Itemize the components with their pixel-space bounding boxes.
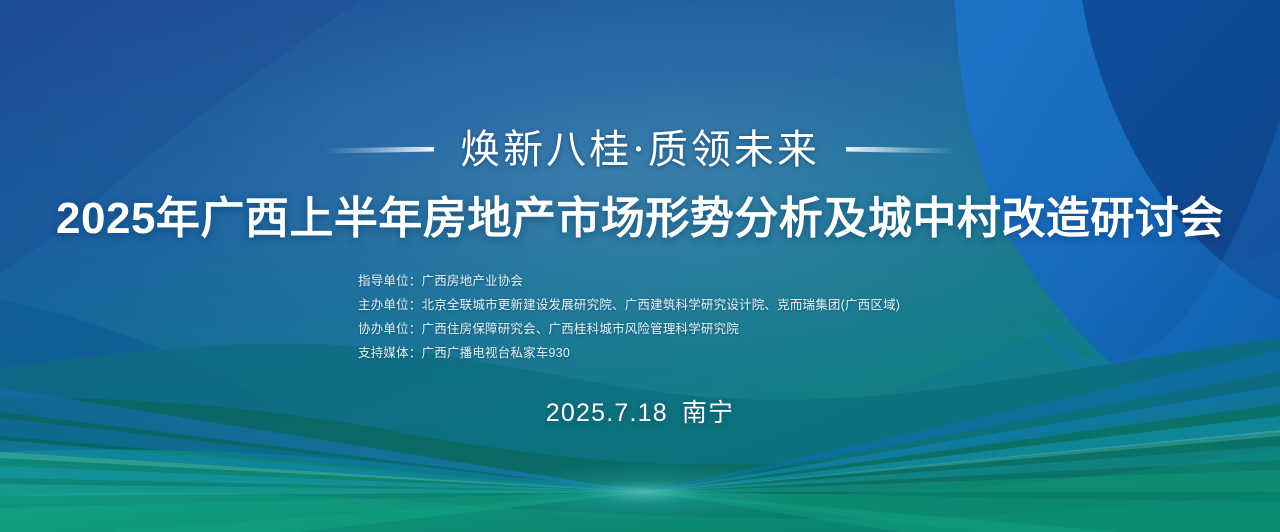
event-date: 2025.7.18 <box>546 399 668 427</box>
conference-poster: 焕新八桂·质领未来 2025年广西上半年房地产市场形势分析及城中村改造研讨会 指… <box>0 0 1280 532</box>
poster-content: 焕新八桂·质领未来 2025年广西上半年房地产市场形势分析及城中村改造研讨会 指… <box>0 0 1280 532</box>
credit-value: 广西住房保障研究会、广西桂科城市风险管理科学研究院 <box>422 322 740 336</box>
credit-line-guidance: 指导单位：广西房地产业协会 <box>358 270 900 292</box>
credit-line-organizer: 主办单位：北京全联城市更新建设发展研究院、广西建筑科学研究设计院、克而瑞集团(广… <box>358 294 900 316</box>
decorative-rule-left-icon <box>326 147 434 154</box>
credits-block: 指导单位：广西房地产业协会 主办单位：北京全联城市更新建设发展研究院、广西建筑科… <box>358 270 900 364</box>
eyebrow-slogan: 焕新八桂·质领未来 <box>460 130 820 170</box>
decorative-rule-right-icon <box>846 147 954 154</box>
credit-line-co-organizer: 协办单位：广西住房保障研究会、广西桂科城市风险管理科学研究院 <box>358 318 900 340</box>
credit-label: 支持媒体： <box>358 346 422 360</box>
event-city: 南宁 <box>682 399 734 427</box>
credit-label: 主办单位： <box>358 298 422 312</box>
credit-value: 北京全联城市更新建设发展研究院、广西建筑科学研究设计院、克而瑞集团(广西区域) <box>422 298 901 312</box>
eyebrow-row: 焕新八桂·质领未来 <box>0 130 1280 170</box>
poster-headline: 2025年广西上半年房地产市场形势分析及城中村改造研讨会 <box>0 194 1280 243</box>
footer-row: 2025.7.18南宁 <box>0 396 1280 430</box>
credit-value: 广西广播电视台私家车930 <box>422 346 570 360</box>
credit-label: 指导单位： <box>358 274 422 288</box>
credit-value: 广西房地产业协会 <box>422 274 524 288</box>
credit-label: 协办单位： <box>358 322 422 336</box>
credit-line-media: 支持媒体：广西广播电视台私家车930 <box>358 342 900 364</box>
